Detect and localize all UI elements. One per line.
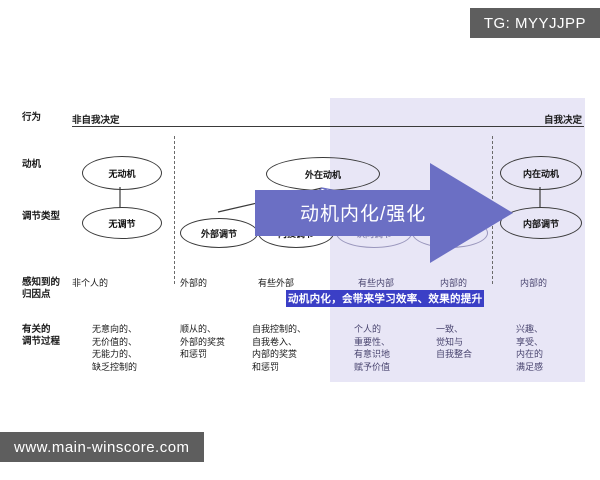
process-4: 个人的 重要性、 有意识地 赋予价值 [354, 323, 390, 373]
locus-4: 有些内部 [358, 277, 394, 290]
node-external-regulation: 外部调节 [180, 218, 258, 248]
locus-6: 内部的 [520, 277, 547, 290]
node-amotivation: 无动机 [82, 156, 162, 190]
process-2: 顺从的、 外部的奖赏 和惩罚 [180, 323, 225, 361]
locus-1: 非个人的 [72, 277, 108, 290]
site-watermark-chip: www.main-winscore.com [0, 432, 204, 462]
locus-5: 内部的 [440, 277, 467, 290]
caption-banner: 动机内化，会带来学习效率、效果的提升 [286, 290, 484, 307]
process-5: 一致、 觉知与 自我整合 [436, 323, 472, 361]
internalization-arrow-label: 动机内化/强化 [300, 199, 426, 226]
process-6: 兴趣、 享受、 内在的 满足感 [516, 323, 543, 373]
process-3: 自我控制的、 自我卷入、 内部的奖赏 和惩罚 [252, 323, 306, 373]
locus-2: 外部的 [180, 277, 207, 290]
tag-watermark-chip: TG: MYYJJPP [470, 8, 600, 38]
process-1: 无意向的、 无价值的、 无能力的、 缺乏控制的 [92, 323, 137, 373]
node-non-regulation: 无调节 [82, 207, 162, 239]
diagram-canvas: 非自我决定 自我决定 行为 动机 调节类型 感知到的 归因点 有关的 调节过程 … [0, 0, 600, 480]
locus-3: 有些外部 [258, 277, 294, 290]
